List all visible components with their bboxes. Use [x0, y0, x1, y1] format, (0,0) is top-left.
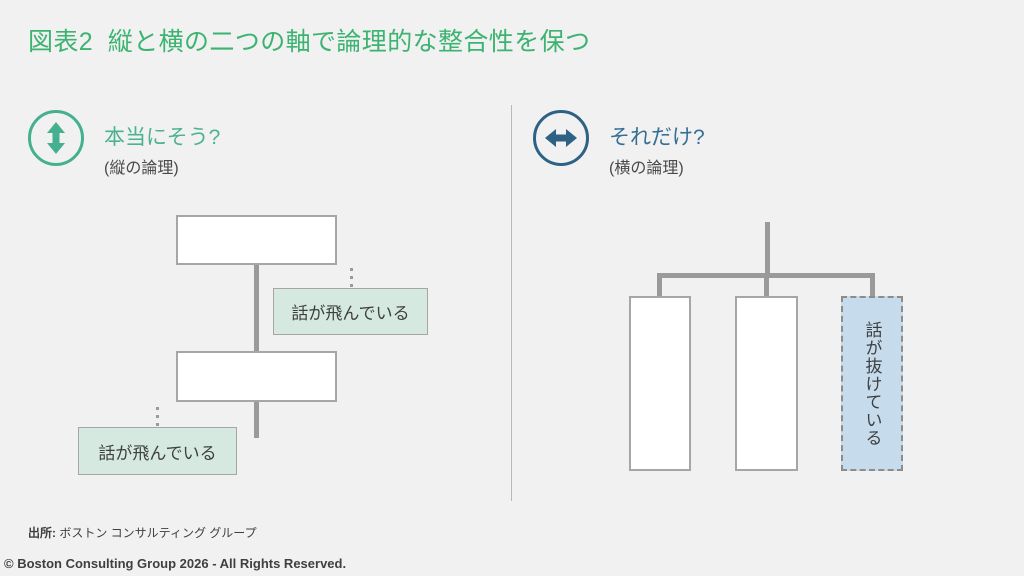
left-box-1 [176, 215, 337, 265]
left-panel-subheading: (縦の論理) [104, 154, 179, 178]
horizontal-double-arrow-icon [533, 110, 589, 166]
right-missing-box: 話が抜けている [841, 296, 903, 471]
left-connector-lower [254, 400, 259, 438]
left-callout-1: 話が飛んでいる [273, 288, 428, 335]
right-box-1 [629, 296, 691, 471]
left-callout-1-text: 話が飛んでいる [291, 299, 409, 324]
copyright-text: © Boston Consulting Group 2026 - All Rig… [4, 556, 346, 571]
source-value: ボストン コンサルティング グループ [59, 526, 256, 540]
source-note: 出所: ボストン コンサルティング グループ [28, 524, 257, 541]
right-panel-header: それだけ? (横の論理) [533, 110, 973, 190]
left-box-2 [176, 351, 337, 402]
left-panel-header: 本当にそう? (縦の論理) [28, 110, 468, 190]
right-box-2 [735, 296, 798, 471]
slide-canvas: 図表2 縦と横の二つの軸で論理的な整合性を保つ 本当にそう? (縦の論理) 話が… [0, 0, 1024, 576]
left-callout-2: 話が飛んでいる [78, 427, 237, 475]
vertical-double-arrow-icon [28, 110, 84, 166]
right-missing-box-text: 話が抜けている [864, 321, 881, 447]
right-panel-subheading: (横の論理) [609, 154, 684, 178]
left-callout-2-text: 話が飛んでいる [98, 439, 216, 464]
source-label: 出所: [28, 526, 56, 540]
right-panel-heading: それだけ? [609, 121, 705, 151]
page-title: 図表2 縦と横の二つの軸で論理的な整合性を保つ [28, 22, 590, 58]
left-connector-upper [254, 263, 259, 353]
left-panel-heading: 本当にそう? [104, 121, 220, 151]
right-tree-stem [765, 222, 770, 278]
panel-divider [511, 105, 512, 501]
